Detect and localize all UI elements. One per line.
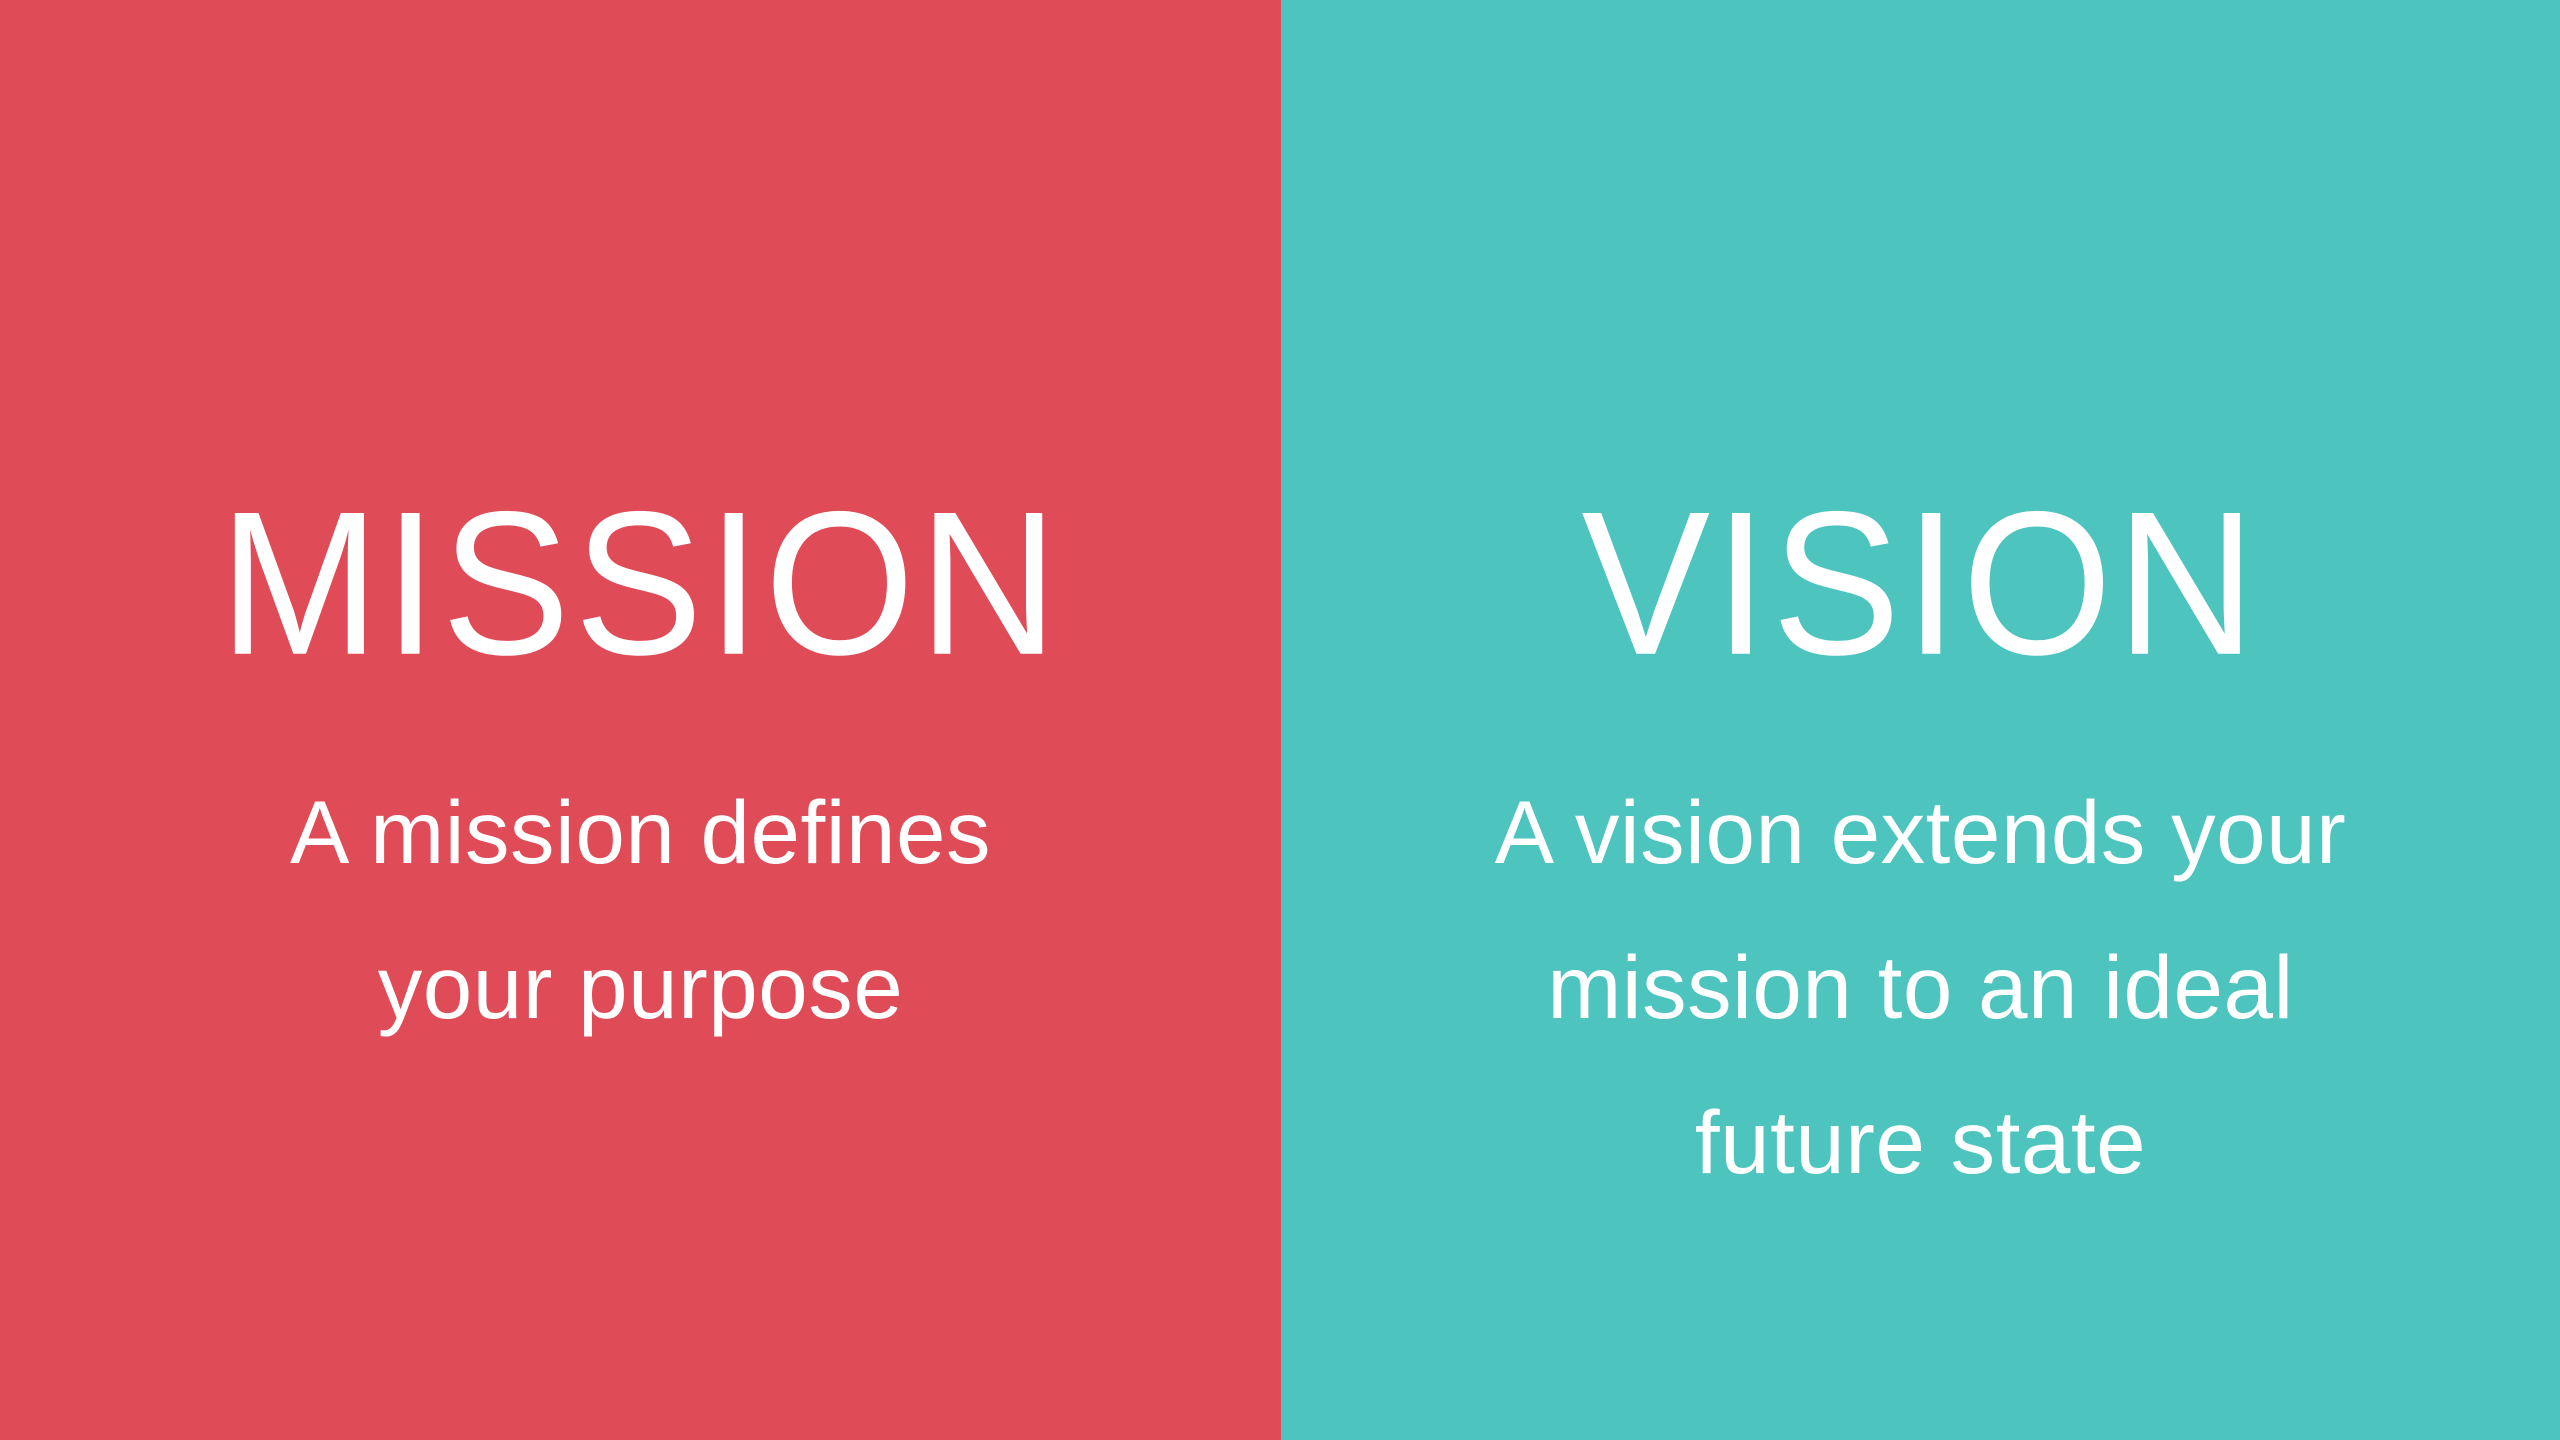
mission-panel: MISSION A mission defines your purpose: [0, 0, 1281, 1440]
vision-body-line-2: mission to an ideal: [1406, 910, 2435, 1065]
mission-body-line-1: A mission defines: [180, 755, 1101, 910]
vision-body-text: A vision extends your mission to an idea…: [1281, 755, 2560, 1220]
vision-panel: VISION A vision extends your mission to …: [1281, 0, 2560, 1440]
vision-body-line-3: future state: [1406, 1065, 2435, 1220]
mission-body-line-2: your purpose: [180, 910, 1101, 1065]
mission-heading: MISSION: [0, 481, 1281, 686]
vision-heading: VISION: [1281, 481, 2560, 686]
mission-body-text: A mission defines your purpose: [0, 755, 1281, 1065]
mission-vision-slide: MISSION A mission defines your purpose V…: [0, 0, 2560, 1440]
vision-body-line-1: A vision extends your: [1406, 755, 2435, 910]
